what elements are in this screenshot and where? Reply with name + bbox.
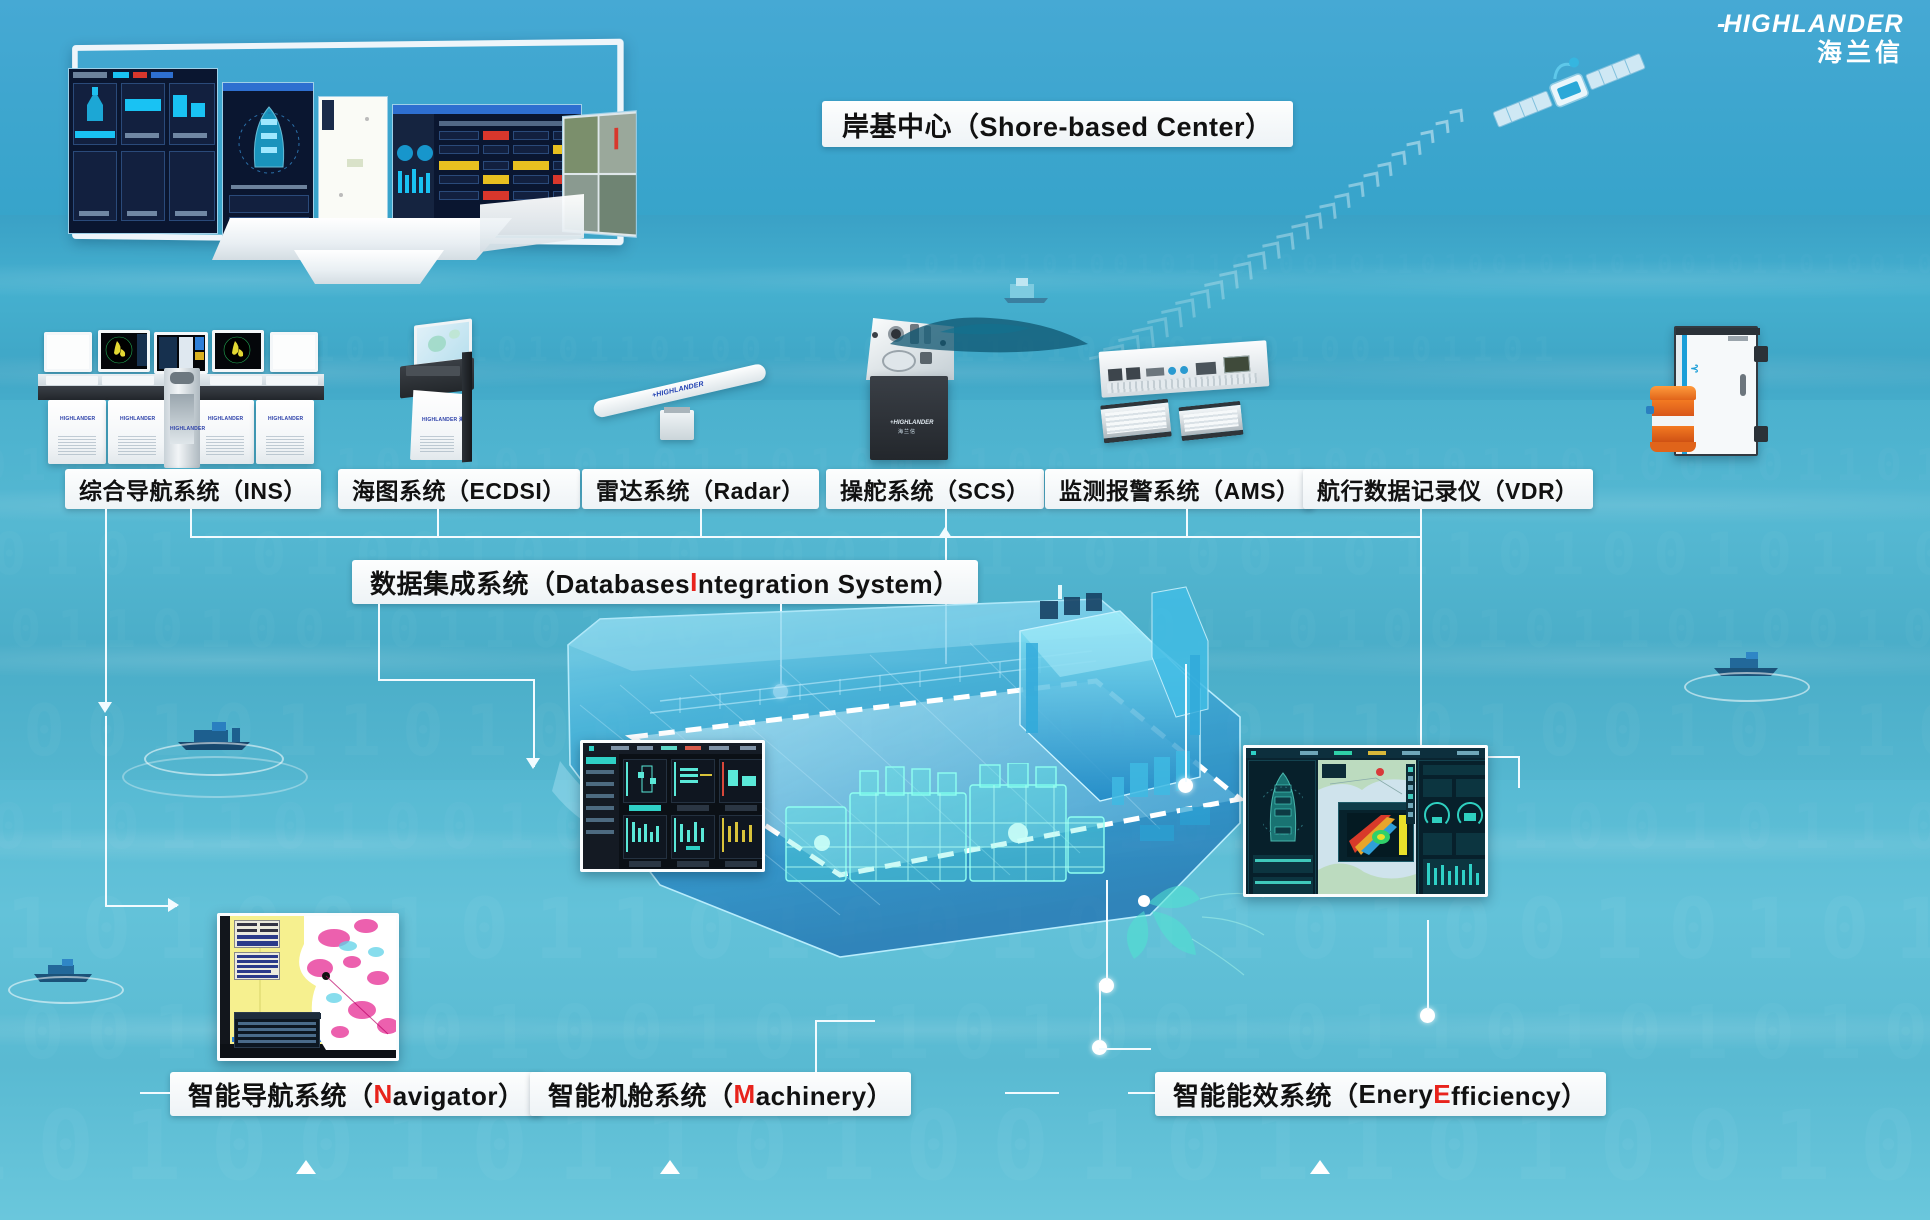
chip-smart-efficiency[interactable]: 智能能效系统（Enery Efficiency）	[1155, 1072, 1606, 1116]
satellite-icon	[1480, 30, 1660, 150]
vessel-ripple	[122, 756, 308, 798]
bottom-marker	[660, 1160, 680, 1174]
screen-machinery[interactable]	[580, 740, 765, 872]
bottom-marker	[296, 1160, 316, 1174]
connector	[190, 509, 192, 537]
arrow-down-icon	[526, 758, 540, 769]
connector-bus	[190, 536, 1422, 538]
chevron-icon	[1406, 140, 1421, 157]
brand-logo-cn: 海兰信	[1717, 39, 1904, 68]
chip-system-ecdsi[interactable]: 海图系统（ECDSI）	[338, 469, 580, 509]
smart-eff-suffix: fficiency）	[1451, 1076, 1588, 1113]
connector	[378, 604, 380, 680]
chevron-icon	[1435, 119, 1449, 135]
connector	[815, 1020, 875, 1022]
equipment-ecdis-kiosk: HIGHLANDER 海兰信	[388, 322, 482, 462]
smart-nav-prefix: 智能导航系统（	[188, 1076, 374, 1113]
connector	[1420, 536, 1422, 756]
equipment-vdr-cabinet-capsule: ⊰	[1648, 322, 1778, 470]
chevron-icon	[1363, 171, 1379, 189]
equipment-alarm-monitoring-units	[1096, 346, 1286, 456]
connection-node	[1420, 1008, 1435, 1023]
chip-shore-based-center[interactable]: 岸基中心（Shore-based Center）	[822, 101, 1293, 147]
equipment-radar-antenna: +HIGHLANDER	[594, 370, 774, 450]
connector	[378, 679, 534, 681]
equipment-integrated-navigation-console: HIGHLANDER HIGHLANDER HIGHLANDER HIGHLAN…	[38, 330, 324, 465]
connector	[1099, 1048, 1151, 1050]
arrow-right-icon	[168, 898, 179, 912]
connector	[1106, 880, 1108, 980]
chevron-icon	[1334, 192, 1351, 211]
connector	[437, 509, 439, 537]
brand-logo-en: -HIGHLANDER	[1717, 12, 1904, 37]
smart-eff-highlight: E	[1433, 1079, 1451, 1110]
connector	[700, 509, 702, 537]
chevron-icon	[1320, 202, 1337, 221]
chip-smart-machinery[interactable]: 智能机舱系统（Machinery）	[530, 1072, 911, 1116]
island	[880, 298, 1100, 354]
screen-navigator[interactable]	[217, 913, 399, 1061]
arrow-up-icon	[938, 527, 952, 538]
chevron-icon	[1449, 109, 1463, 124]
vessel-ripple	[1684, 672, 1810, 702]
connector	[533, 679, 535, 767]
connector	[1185, 664, 1187, 782]
connector	[105, 716, 107, 906]
smart-mach-suffix: achinery）	[756, 1076, 893, 1113]
connector	[1128, 1092, 1156, 1094]
connector	[140, 1092, 170, 1094]
connector	[1005, 1092, 1059, 1094]
brand-logo: -HIGHLANDER 海兰信	[1717, 12, 1904, 68]
brand-logo-en-text: HIGHLANDER	[1723, 10, 1904, 38]
smart-nav-suffix: avigator）	[393, 1076, 525, 1113]
engine-hologram	[780, 763, 1110, 913]
chip-system-vdr[interactable]: 航行数据记录仪（VDR）	[1303, 469, 1593, 509]
chip-system-scs[interactable]: 操舵系统（SCS）	[826, 469, 1044, 509]
shore-center-video-wall	[62, 42, 622, 257]
vessel-ripple	[8, 976, 124, 1004]
connector	[1186, 509, 1188, 537]
connector	[105, 509, 107, 537]
chevron-icon	[1377, 161, 1393, 178]
wall-panel-vessel-status	[222, 82, 314, 240]
chevron-icon	[1421, 130, 1435, 146]
smart-nav-highlight: N	[374, 1079, 393, 1110]
chip-system-ams[interactable]: 监测报警系统（AMS）	[1045, 469, 1314, 509]
screen-energy-efficiency[interactable]	[1243, 745, 1488, 897]
chevron-icon	[1392, 151, 1407, 168]
wall-panel-overview	[68, 68, 218, 234]
connector	[1518, 756, 1520, 788]
connector	[1420, 509, 1422, 537]
chip-system-radar[interactable]: 雷达系统（Radar）	[582, 469, 819, 509]
chevron-icon	[1349, 182, 1365, 200]
connector	[1427, 920, 1429, 1010]
connector	[105, 536, 107, 704]
connector	[815, 1020, 817, 1072]
smart-mach-highlight: M	[734, 1079, 756, 1110]
bottom-marker	[1310, 1160, 1330, 1174]
diagram-canvas: 0101001011010010101101001100101101001011…	[0, 0, 1930, 1220]
connector	[1099, 983, 1101, 1041]
desk-base	[294, 250, 444, 284]
smart-eff-pretext: Enery	[1359, 1079, 1434, 1110]
smart-eff-prefix: 智能能效系统（	[1173, 1076, 1359, 1113]
chip-system-ins[interactable]: 综合导航系统（INS）	[65, 469, 321, 509]
connector	[105, 905, 177, 907]
connection-node	[1099, 978, 1114, 993]
chip-smart-navigator[interactable]: 智能导航系统（Navigator）	[170, 1072, 542, 1116]
arrow-down-icon	[98, 702, 112, 713]
smart-mach-prefix: 智能机舱系统（	[548, 1076, 734, 1113]
